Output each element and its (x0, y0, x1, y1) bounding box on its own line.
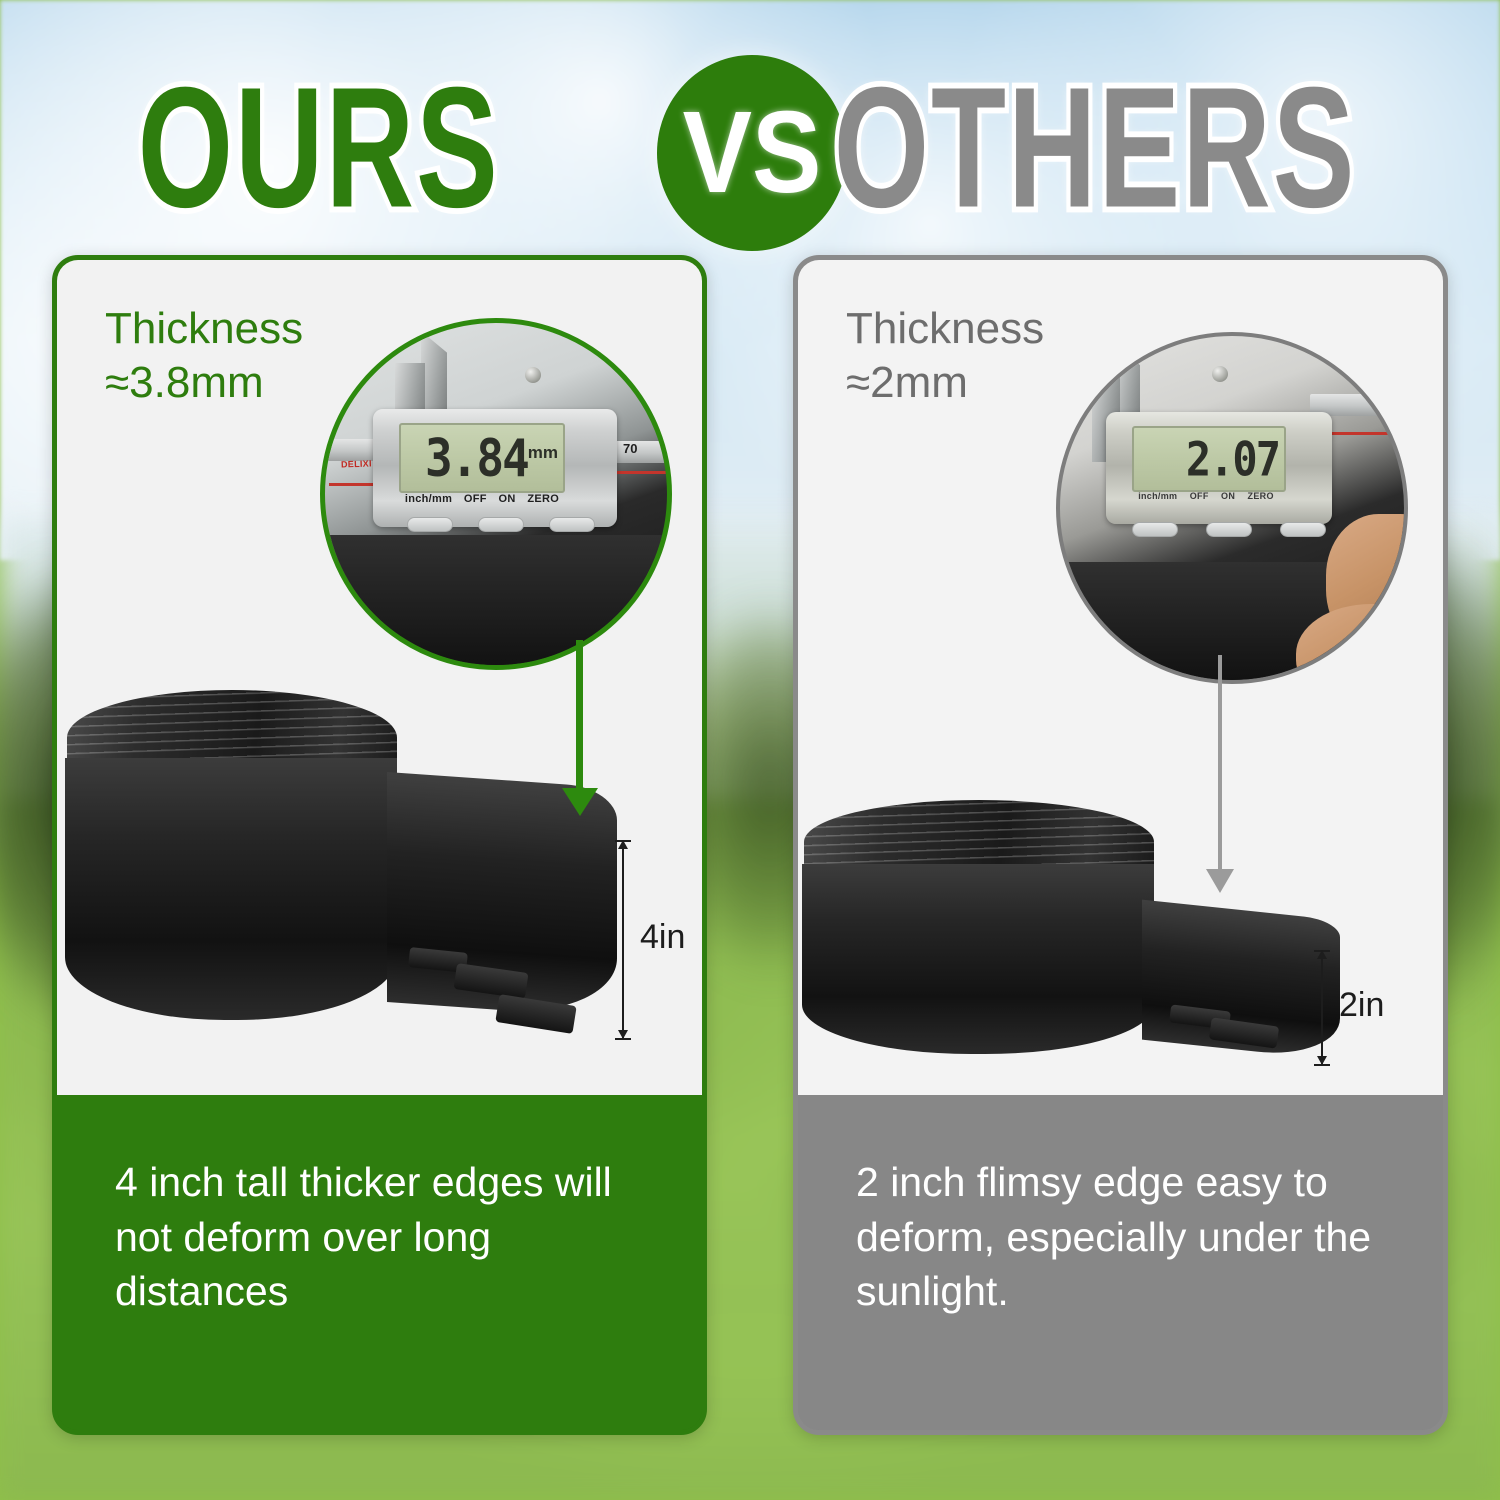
ours-title: OURS (138, 62, 500, 234)
others-title: OTHERS (833, 62, 1356, 234)
caliper-button-1 (1132, 522, 1178, 537)
caliper-btn-label-off: OFF (464, 493, 487, 505)
roll-body (802, 864, 1154, 1054)
others-thickness-block: Thickness ≈2mm (846, 302, 1044, 409)
ours-panel: Thickness ≈3.8mm 4in (52, 255, 707, 1435)
caliper-screw-top (1212, 366, 1228, 382)
others-caliper-lcd: 2.07 (1132, 426, 1286, 492)
caliper-btn-label-inchmm: inch/mm (1138, 491, 1177, 501)
ours-caliper-body: 3.84 mm inch/mm OFF ON ZERO (373, 409, 617, 527)
others-thickness-label: Thickness (846, 302, 1044, 356)
roll-body (65, 758, 397, 1020)
comparison-header: OURS OTHERS (0, 48, 1500, 248)
ours-caliper-button-labels: inch/mm OFF ON ZERO (399, 491, 565, 507)
ours-thickness-label: Thickness (105, 302, 303, 356)
caliper-screw-top (525, 367, 541, 383)
others-caliper-button-labels: inch/mm OFF ON ZERO (1132, 488, 1280, 504)
ours-caption: 4 inch tall thicker edges will not defor… (57, 1095, 702, 1430)
caliper-scale-right (613, 441, 672, 463)
caliper-brand-left: DELIXI (341, 458, 372, 469)
caliper-button-2 (1206, 522, 1252, 537)
caliper-button-1 (407, 517, 453, 532)
caliper-photo-dark-edge (325, 535, 672, 670)
caliper-scale-number: 70 (623, 441, 637, 456)
ours-thickness-value: ≈3.8mm (105, 356, 303, 410)
caliper-button-3 (549, 517, 595, 532)
others-panel: Thickness ≈2mm 2in (793, 255, 1448, 1435)
caliper-btn-label-inchmm: inch/mm (405, 493, 452, 505)
others-caliper-reading: 2.07 (1186, 432, 1279, 487)
ours-dimension-label: 4in (640, 918, 685, 957)
caliper-btn-label-on: ON (499, 493, 516, 505)
caliper-btn-label-on: ON (1221, 491, 1235, 501)
caliper-button-3 (1280, 522, 1326, 537)
others-caliper-body: 2.07 inch/mm OFF ON ZERO (1106, 412, 1332, 524)
caliper-btn-label-zero: ZERO (1248, 491, 1274, 501)
ours-caliper-unit: mm (528, 443, 558, 463)
others-magnifier-circle-icon: DELIXI 2.07 inch/mm OFF ON ZERO (1056, 332, 1408, 684)
caliper-button-2 (478, 517, 524, 532)
others-caption: 2 inch flimsy edge easy to deform, espec… (798, 1095, 1443, 1430)
caliper-red-line-right (615, 471, 672, 474)
ours-caliper-reading: 3.84 (425, 428, 528, 488)
ours-caliper-buttons (395, 515, 607, 533)
ours-magnifier-circle-icon: DELIXI 70 3.84 mm inch/mm OFF ON ZERO (320, 318, 672, 670)
ours-photo-area: Thickness ≈3.8mm 4in (57, 260, 702, 1105)
others-caliper-buttons (1118, 520, 1340, 538)
others-dimension-label: 2in (1339, 986, 1384, 1025)
others-photo-area: Thickness ≈2mm 2in (798, 260, 1443, 1105)
ours-caliper-lcd: 3.84 mm (399, 423, 565, 493)
ours-thickness-block: Thickness ≈3.8mm (105, 302, 303, 409)
others-thickness-value: ≈2mm (846, 356, 1044, 410)
caliper-btn-label-off: OFF (1190, 491, 1209, 501)
caliper-btn-label-zero: ZERO (527, 493, 559, 505)
